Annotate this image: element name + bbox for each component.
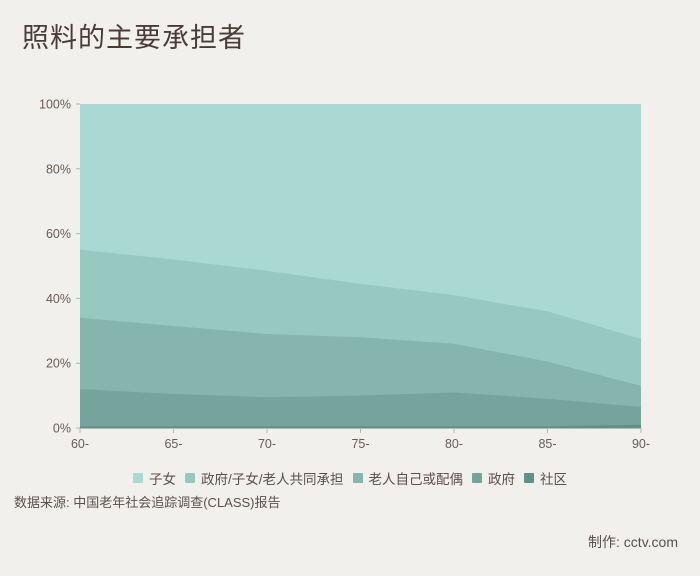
stacked-area-chart: 0%20%40%60%80%100% 60-65-70-75-80-85-90- bbox=[0, 0, 700, 470]
legend-label: 社区 bbox=[540, 468, 567, 488]
y-axis-tick-label: 60% bbox=[46, 227, 71, 241]
chart-legend: 子女政府/子女/老人共同承担老人自己或配偶政府社区 bbox=[0, 468, 700, 488]
y-axis-tick-label: 0% bbox=[53, 422, 71, 436]
legend-swatch-icon bbox=[353, 473, 363, 483]
y-axis-tick-label: 80% bbox=[46, 162, 71, 176]
legend-item-1[interactable]: 政府/子女/老人共同承担 bbox=[185, 468, 344, 488]
x-axis-tick-label: 85- bbox=[538, 437, 556, 451]
chart-plot-area: 0%20%40%60%80%100% 60-65-70-75-80-85-90- bbox=[0, 0, 700, 470]
legend-label: 老人自己或配偶 bbox=[369, 468, 464, 488]
legend-item-0[interactable]: 子女 bbox=[133, 468, 176, 488]
x-axis-tick-label: 80- bbox=[445, 437, 463, 451]
y-axis-tick-label: 20% bbox=[46, 357, 71, 371]
x-axis-tick-label: 70- bbox=[258, 437, 276, 451]
legend-label: 政府 bbox=[488, 468, 515, 488]
source-note: 数据来源: 中国老年社会追踪调查(CLASS)报告 bbox=[14, 492, 281, 511]
y-axis-tick-label: 40% bbox=[46, 292, 71, 306]
area-series-group bbox=[80, 104, 641, 428]
legend-swatch-icon bbox=[472, 473, 482, 483]
x-axis-tick-labels: 60-65-70-75-80-85-90- bbox=[71, 437, 650, 451]
legend-label: 政府/子女/老人共同承担 bbox=[201, 468, 344, 488]
y-axis-tick-label: 100% bbox=[39, 98, 71, 112]
x-axis-tick-label: 90- bbox=[632, 437, 650, 451]
legend-item-3[interactable]: 政府 bbox=[472, 468, 515, 488]
x-axis-tick-label: 75- bbox=[351, 437, 369, 451]
credit-label: 制作: cctv.com bbox=[588, 532, 678, 552]
legend-swatch-icon bbox=[133, 473, 143, 483]
legend-swatch-icon bbox=[524, 473, 534, 483]
legend-swatch-icon bbox=[185, 473, 195, 483]
x-axis-tick-label: 65- bbox=[164, 437, 182, 451]
x-axis-tick-label: 60- bbox=[71, 437, 89, 451]
legend-item-4[interactable]: 社区 bbox=[524, 468, 567, 488]
legend-label: 子女 bbox=[149, 468, 176, 488]
legend-item-2[interactable]: 老人自己或配偶 bbox=[353, 468, 464, 488]
y-axis-tick-labels: 0%20%40%60%80%100% bbox=[39, 98, 71, 436]
